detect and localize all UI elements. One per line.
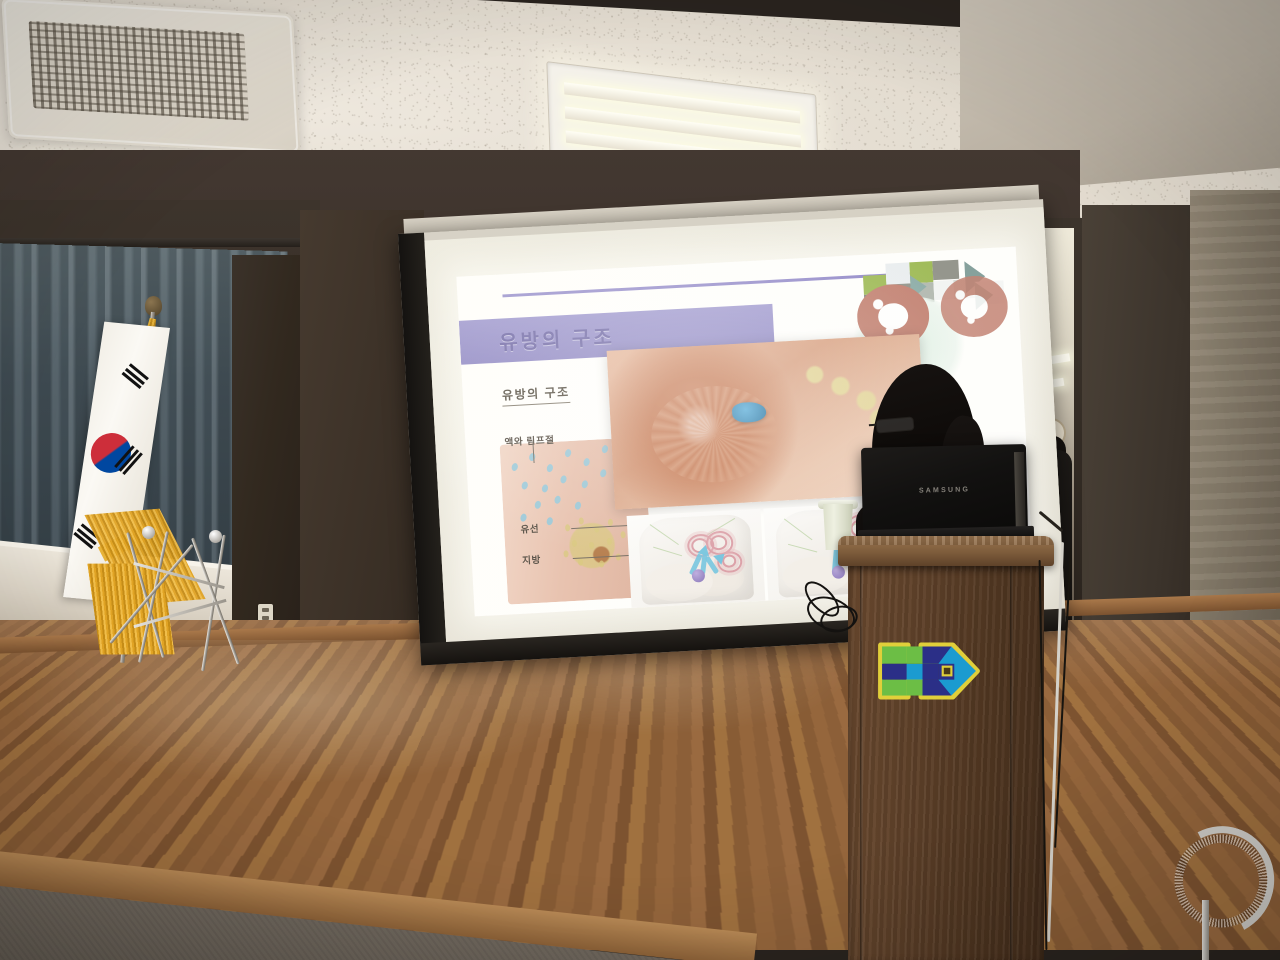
lecture-room-scene: 유방의 구조 유방의 구조 [0,0,1280,960]
laptop-brand-label: SAMSUNG [862,485,1027,496]
slide-label-fat: 지방 [522,552,541,567]
hd-navy-bar [923,664,939,680]
tripod-leg [138,531,169,663]
duct-radial-pattern [649,383,779,486]
mosaic-tile [932,260,959,280]
slide-label-axillary-lymph-node: 액와 림프절 [504,432,555,449]
hd-logo-svg [874,632,984,710]
slide-label-mammary-gland: 유선 [520,521,539,536]
hd-green-d [907,680,923,696]
tripod-leg [109,544,194,644]
podium-worktop[interactable] [838,536,1054,566]
microphone-stem [1202,900,1209,960]
trigram-geon-icon [120,363,149,391]
hd-logo-emblem [874,632,984,710]
laptop-lid[interactable]: SAMSUNG [861,444,1028,538]
lymphatic-drainage-diagram-1 [626,509,765,608]
flag-tripod-stand [92,530,312,690]
gooseneck-microphone[interactable] [1168,826,1264,952]
slide-subtitle: 유방의 구조 [502,383,571,407]
podium-groove [1010,562,1013,960]
ceiling-ac-unit [1,0,300,155]
hd-center-square [943,667,952,676]
hd-green-a [882,646,907,663]
hd-navy-a [882,664,907,680]
hd-green-b [882,680,907,696]
ac-grille [29,21,250,121]
podium-groove [860,562,863,960]
hd-green-c [907,646,923,663]
tripod-crossbar [133,562,225,589]
lectern-podium[interactable] [840,536,1052,960]
microphone-gooseneck-arm [1154,812,1280,949]
tripod-hub [142,526,155,539]
hd-teal-bar [907,664,923,680]
podium-body [848,562,1044,960]
laptop-hinge [1014,452,1026,536]
mosaic-tile [886,263,910,285]
tripod-hub [209,530,222,543]
